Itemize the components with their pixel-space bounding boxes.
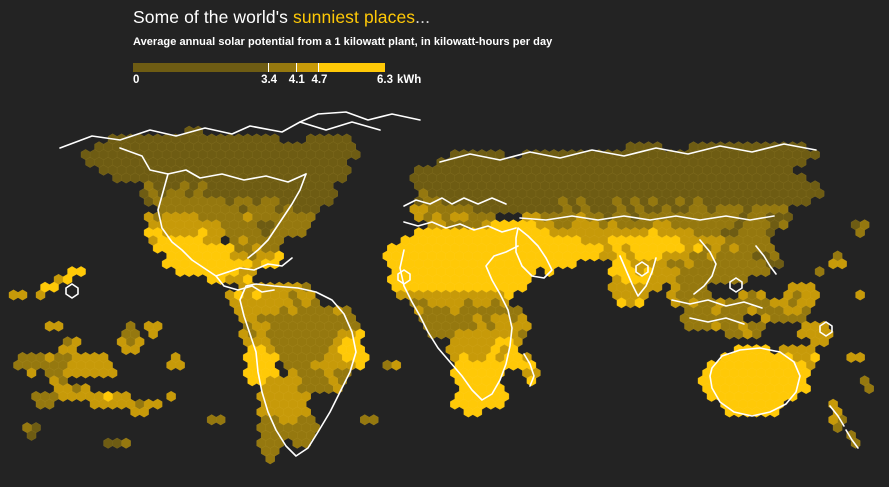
legend-segment-3 [319,63,385,72]
legend-segment-0 [133,63,269,72]
legend-tick-6-3: 6.3 [377,74,393,86]
legend-unit-label: kWh [397,74,421,86]
legend-tick-0: 0 [133,74,139,86]
legend-tick-labels: 03.44.14.76.3kWh [133,74,463,90]
world-hex-map [0,100,889,487]
title-ellipsis: ... [415,7,430,27]
legend-tick-3-4: 3.4 [261,74,277,86]
legend-color-bar [133,63,385,72]
header: Some of the world's sunniest places... A… [133,6,873,49]
legend: 03.44.14.76.3kWh [133,63,463,90]
title-lead: Some of the world's [133,7,293,27]
solar-potential-visualization: Some of the world's sunniest places... A… [0,0,889,487]
page-title: Some of the world's sunniest places... [133,6,873,28]
outline-23 [66,284,78,298]
outline-1 [300,112,420,122]
legend-segment-1 [269,63,297,72]
legend-tick-4-7: 4.7 [311,74,327,86]
legend-segment-2 [297,63,320,72]
title-highlight: sunniest places [293,7,415,27]
legend-tick-4-1: 4.1 [289,74,305,86]
chart-subtitle: Average annual solar potential from a 1 … [133,35,873,49]
